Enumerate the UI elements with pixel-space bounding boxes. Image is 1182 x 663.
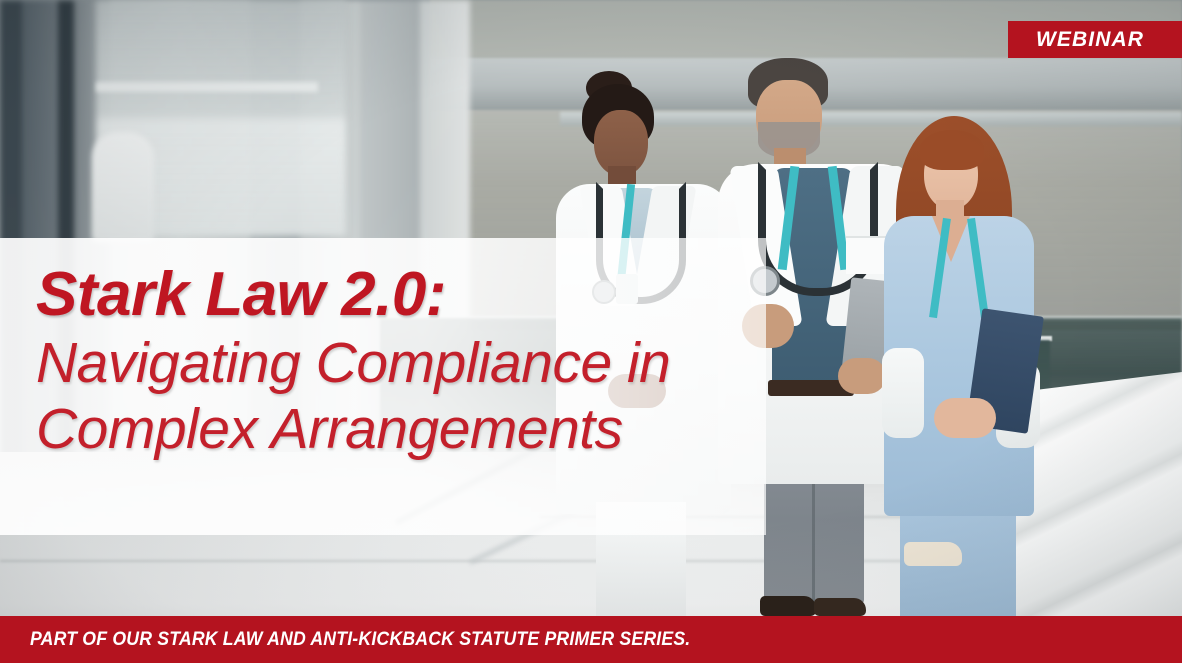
shoe bbox=[904, 542, 962, 566]
series-banner-text: PART OF OUR STARK LAW AND ANTI-KICKBACK … bbox=[30, 629, 690, 651]
series-banner: PART OF OUR STARK LAW AND ANTI-KICKBACK … bbox=[0, 616, 1182, 663]
undershirt-sleeve-left bbox=[882, 348, 924, 438]
person-nurse bbox=[878, 112, 1048, 612]
webinar-promo-card: WEBINAR Stark Law 2.0: Navigating Compli… bbox=[0, 0, 1182, 663]
page-subtitle-line-2: Complex Arrangements bbox=[36, 398, 766, 462]
webinar-badge-label: WEBINAR bbox=[1036, 28, 1144, 52]
hair-fringe bbox=[920, 130, 984, 170]
title-panel: Stark Law 2.0: Navigating Compliance in … bbox=[0, 238, 766, 535]
hands bbox=[934, 398, 996, 438]
page-subtitle-line-1: Navigating Compliance in bbox=[36, 332, 766, 396]
page-title: Stark Law 2.0: bbox=[36, 264, 766, 326]
shoe-left bbox=[760, 596, 816, 616]
shoe-right bbox=[814, 598, 866, 616]
webinar-badge: WEBINAR bbox=[1008, 21, 1182, 58]
